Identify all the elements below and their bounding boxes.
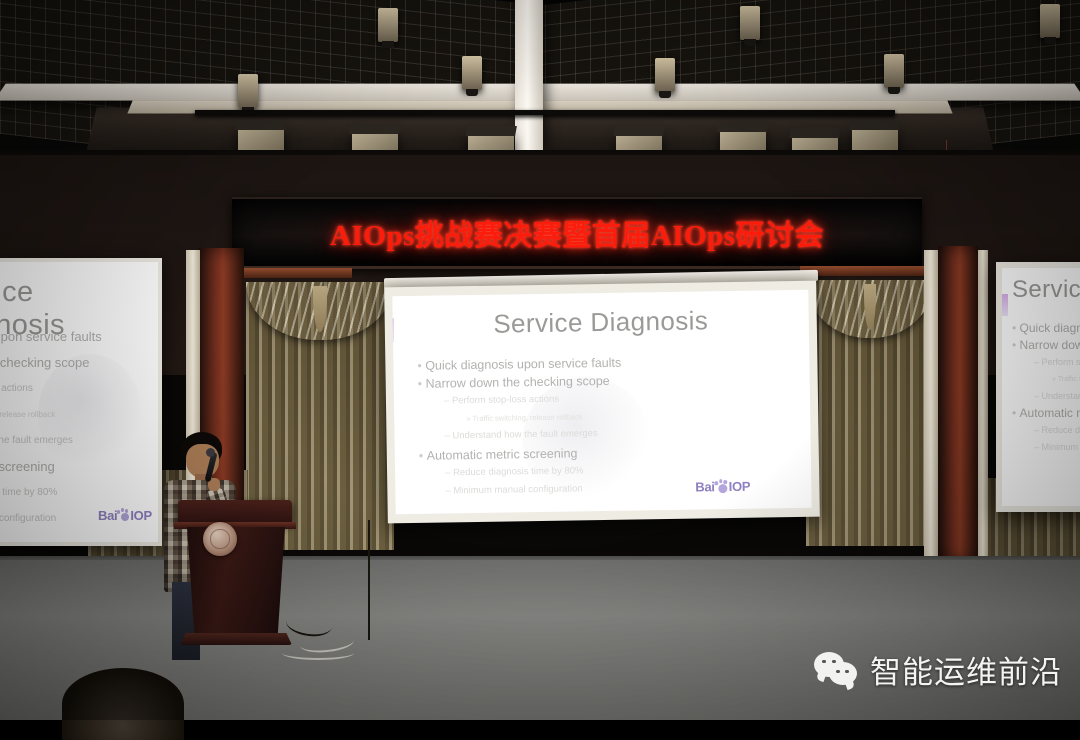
podium-emblem	[203, 522, 237, 556]
right-projection-screen: Service Diagnosis • Quick diagnosis upon…	[996, 262, 1080, 512]
left-slide-baidu-logo: Bai IOP	[98, 508, 152, 523]
baidu-paw-icon	[715, 480, 729, 494]
wechat-watermark: 智能运维前沿	[814, 647, 1062, 692]
lighting-truss	[195, 110, 895, 115]
right-slide-title: Service Diagnosis	[1012, 276, 1080, 304]
baidu-paw-icon	[117, 509, 130, 522]
center-slide-title: Service Diagnosis	[393, 304, 809, 342]
floor-cable	[282, 646, 354, 660]
right-slide-surface: Service Diagnosis • Quick diagnosis upon…	[1002, 268, 1080, 506]
microphone-head	[206, 448, 215, 457]
led-banner-text: AIOps挑战赛决赛暨首届AIOps研讨会	[330, 212, 824, 254]
right-slide-bullets: • Quick diagnosis upon service faults • …	[1012, 320, 1080, 456]
pillar-trim-right-outer	[978, 250, 988, 560]
led-banner: AIOps挑战赛决赛暨首届AIOps研讨会	[232, 197, 922, 269]
stage-curtain-right	[806, 280, 934, 546]
curtain-rail	[232, 268, 352, 278]
stage-light	[378, 8, 398, 42]
pillar-trim-right	[924, 250, 938, 562]
ceiling-beam-vertical	[515, 0, 543, 150]
wall-pillar-right	[938, 246, 978, 562]
lectern-base	[180, 633, 292, 645]
stand-cable	[352, 520, 370, 640]
logo-text-left: Bai	[98, 508, 117, 523]
left-slide-bullets: Quick diagnosis upon service faults Narr…	[0, 324, 158, 532]
center-slide-surface: Service Diagnosis • Quick diagnosis upon…	[392, 290, 811, 515]
wechat-icon	[814, 652, 860, 688]
stage-light	[462, 56, 482, 90]
stage-light	[238, 74, 258, 108]
left-slide-surface: Service Diagnosis Quick diagnosis upon s…	[0, 262, 158, 542]
stage-light	[1040, 4, 1060, 38]
center-slide-baidu-logo: Bai IOP	[695, 479, 750, 495]
projector-flare	[1002, 294, 1008, 316]
lectern-top	[178, 500, 292, 524]
center-slide-bullets: • Quick diagnosis upon service faults • …	[417, 352, 811, 500]
curtain-rail	[800, 266, 940, 276]
logo-text-right: IOP	[130, 508, 152, 523]
stage-light	[740, 6, 760, 40]
audience-member-silhouette	[62, 668, 184, 740]
conference-hall-photo: AIOps挑战赛决赛暨首届AIOps研讨会 Service Diagnosis …	[0, 0, 1080, 720]
logo-text-left: Bai	[695, 479, 715, 494]
center-projection-screen: Service Diagnosis • Quick diagnosis upon…	[384, 281, 820, 524]
stage-light	[655, 58, 675, 92]
logo-text-right: IOP	[729, 479, 751, 494]
left-projection-screen: Service Diagnosis Quick diagnosis upon s…	[0, 258, 162, 546]
stage-light	[884, 54, 904, 88]
watermark-text: 智能运维前沿	[870, 647, 1062, 692]
